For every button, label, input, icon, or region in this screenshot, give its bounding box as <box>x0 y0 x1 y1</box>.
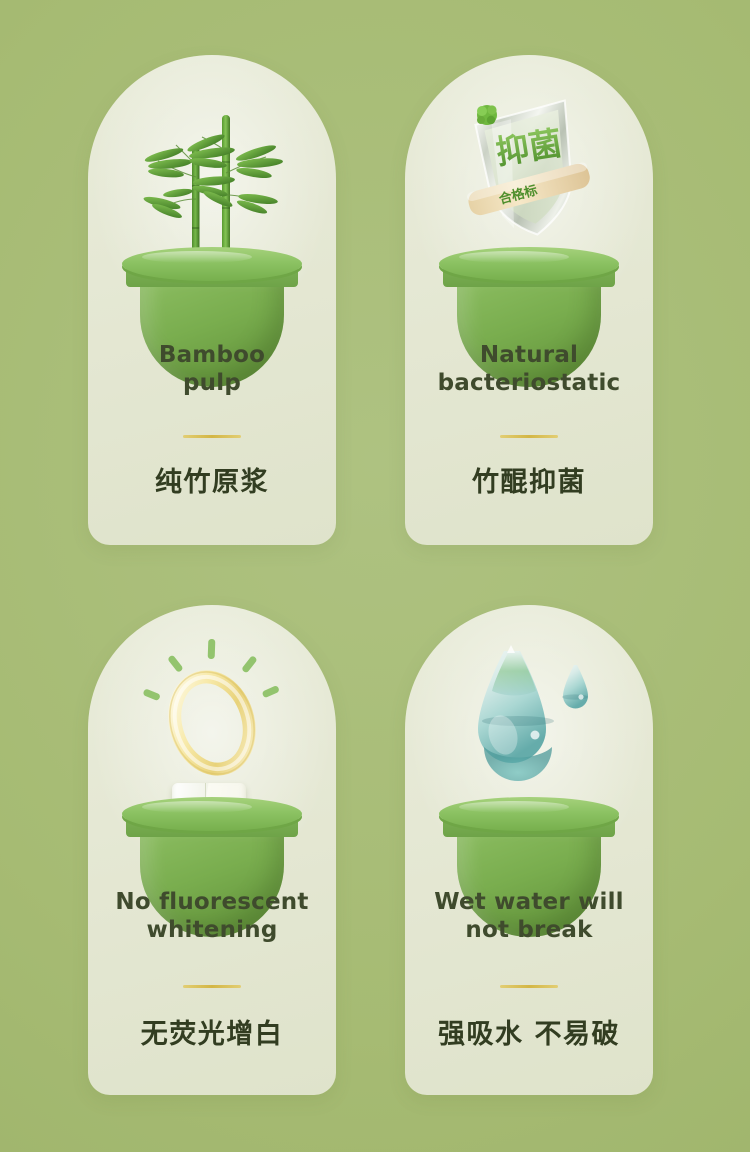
card-title-en-line2: bacteriostatic <box>405 369 653 397</box>
page-background: Bamboo pulp 纯竹原浆 <box>0 0 750 1152</box>
card-title-cn: 强吸水 不易破 <box>405 1019 653 1051</box>
feature-card-bamboo-pulp[interactable]: Bamboo pulp 纯竹原浆 <box>88 55 336 545</box>
green-podium <box>118 797 306 897</box>
shield-bacteriostatic-icon: 抑菌 合格标 <box>465 93 593 253</box>
gold-divider <box>183 985 241 988</box>
card-title-en-line1: No fluorescent <box>88 888 336 916</box>
card-title-en: Natural bacteriostatic <box>405 341 653 397</box>
feature-card-wet-water-will-not-break[interactable]: Wet water will not break 强吸水 不易破 <box>405 605 653 1095</box>
feature-card-grid: Bamboo pulp 纯竹原浆 <box>0 0 750 1152</box>
green-podium <box>435 797 623 897</box>
water-droplet-icon <box>457 639 607 807</box>
card-title-en-line1: Natural <box>405 341 653 369</box>
card-title-en: Bamboo pulp <box>88 341 336 397</box>
gold-divider <box>183 435 241 438</box>
card-title-en-line2: whitening <box>88 916 336 944</box>
green-podium <box>118 247 306 347</box>
sun-ring-eraser-icon <box>132 635 292 785</box>
card-title-en: No fluorescent whitening <box>88 888 336 944</box>
green-podium <box>435 247 623 347</box>
card-title-en: Wet water will not break <box>405 888 653 944</box>
card-title-en-line2: not break <box>405 916 653 944</box>
card-art-stage <box>88 55 336 355</box>
gold-divider <box>500 435 558 438</box>
card-title-en-line1: Bamboo <box>88 341 336 369</box>
card-title-cn: 无荧光增白 <box>88 1019 336 1051</box>
gold-divider <box>500 985 558 988</box>
card-title-en-line2: pulp <box>88 369 336 397</box>
card-title-cn: 纯竹原浆 <box>88 467 336 499</box>
card-art-stage <box>405 605 653 905</box>
card-title-en-line1: Wet water will <box>405 888 653 916</box>
card-title-cn: 竹醌抑菌 <box>405 467 653 499</box>
feature-card-natural-bacteriostatic[interactable]: 抑菌 合格标 <box>405 55 653 545</box>
card-art-stage: 抑菌 合格标 <box>405 55 653 355</box>
card-art-stage <box>88 605 336 905</box>
feature-card-no-fluorescent-whitening[interactable]: No fluorescent whitening 无荧光增白 <box>88 605 336 1095</box>
